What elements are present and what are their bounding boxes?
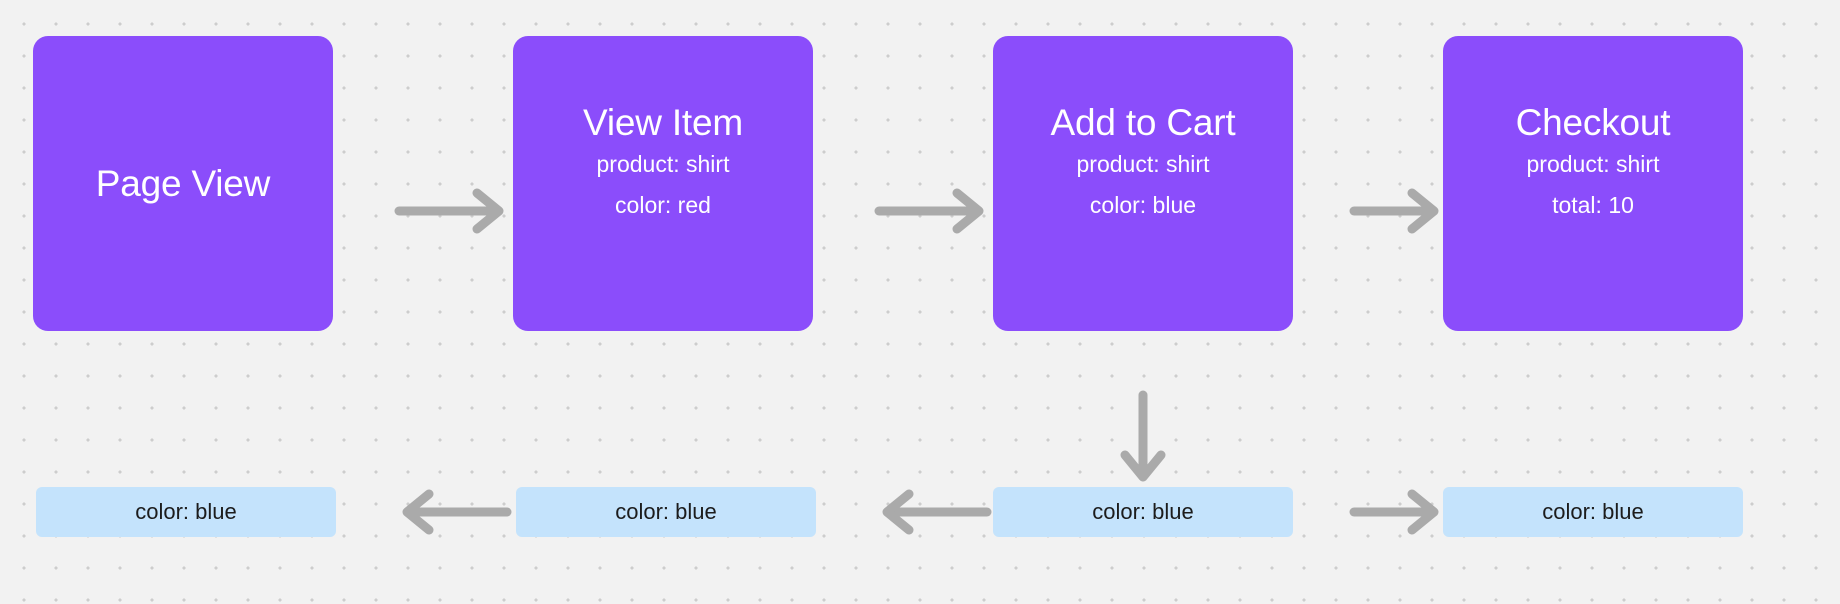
event-node-checkout[interactable]: Checkout product: shirt total: 10: [1443, 36, 1743, 331]
property-node-label: color: blue: [615, 499, 717, 525]
arrow-left-icon: [873, 488, 993, 536]
event-node-property: total: 10: [1552, 185, 1634, 226]
property-node-label: color: blue: [1542, 499, 1644, 525]
arrow-right-icon: [873, 187, 993, 235]
event-node-title: Add to Cart: [1051, 101, 1236, 145]
event-node-properties: product: shirt color: blue: [1077, 144, 1210, 226]
flow-canvas[interactable]: Page View View Item product: shirt color…: [0, 0, 1840, 604]
property-node-4[interactable]: color: blue: [1443, 487, 1743, 537]
event-node-add-to-cart[interactable]: Add to Cart product: shirt color: blue: [993, 36, 1293, 331]
event-node-title: Page View: [96, 162, 270, 206]
event-node-title: Checkout: [1516, 101, 1671, 145]
property-node-3[interactable]: color: blue: [993, 487, 1293, 537]
arrow-down-icon: [1119, 389, 1167, 487]
arrow-right-icon: [393, 187, 513, 235]
event-node-property: product: shirt: [597, 144, 730, 185]
property-node-label: color: blue: [135, 499, 237, 525]
event-node-property: color: red: [615, 185, 711, 226]
arrow-right-icon: [1348, 488, 1448, 536]
event-node-property: product: shirt: [1077, 144, 1210, 185]
event-node-title: View Item: [583, 101, 743, 145]
arrow-left-icon: [393, 488, 513, 536]
event-node-properties: product: shirt color: red: [597, 144, 730, 226]
event-node-property: color: blue: [1090, 185, 1196, 226]
property-node-label: color: blue: [1092, 499, 1194, 525]
arrow-right-icon: [1348, 187, 1448, 235]
property-node-2[interactable]: color: blue: [516, 487, 816, 537]
event-node-properties: product: shirt total: 10: [1527, 144, 1660, 226]
property-node-1[interactable]: color: blue: [36, 487, 336, 537]
event-node-page-view[interactable]: Page View: [33, 36, 333, 331]
event-node-property: product: shirt: [1527, 144, 1660, 185]
event-node-view-item[interactable]: View Item product: shirt color: red: [513, 36, 813, 331]
